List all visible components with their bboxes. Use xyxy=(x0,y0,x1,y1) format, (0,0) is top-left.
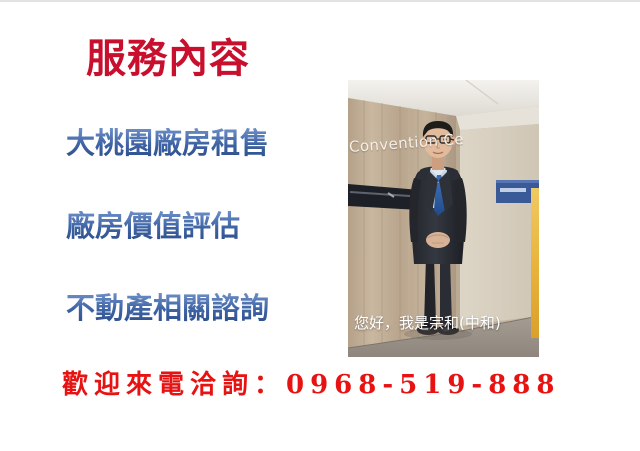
service-item-2: 廠房價值評估 xyxy=(66,211,240,243)
top-divider xyxy=(0,0,640,2)
slide-canvas: 服務內容 大桃園廠房租售 廠房價值評估 不動產相關諮詢 歡迎來電洽詢：0968-… xyxy=(0,0,640,451)
photo-caption: 您好，我是宗和(中和) xyxy=(354,315,539,332)
service-item-1: 大桃園廠房租售 xyxy=(66,128,269,160)
contact-phone-line: 歡迎來電洽詢：0968-519-888 xyxy=(62,371,561,400)
portrait-photo: Convention Ce 您好，我是宗和(中和) xyxy=(348,80,539,357)
service-item-3: 不動產相關諮詢 xyxy=(66,293,269,325)
page-title: 服務內容 xyxy=(86,36,250,82)
